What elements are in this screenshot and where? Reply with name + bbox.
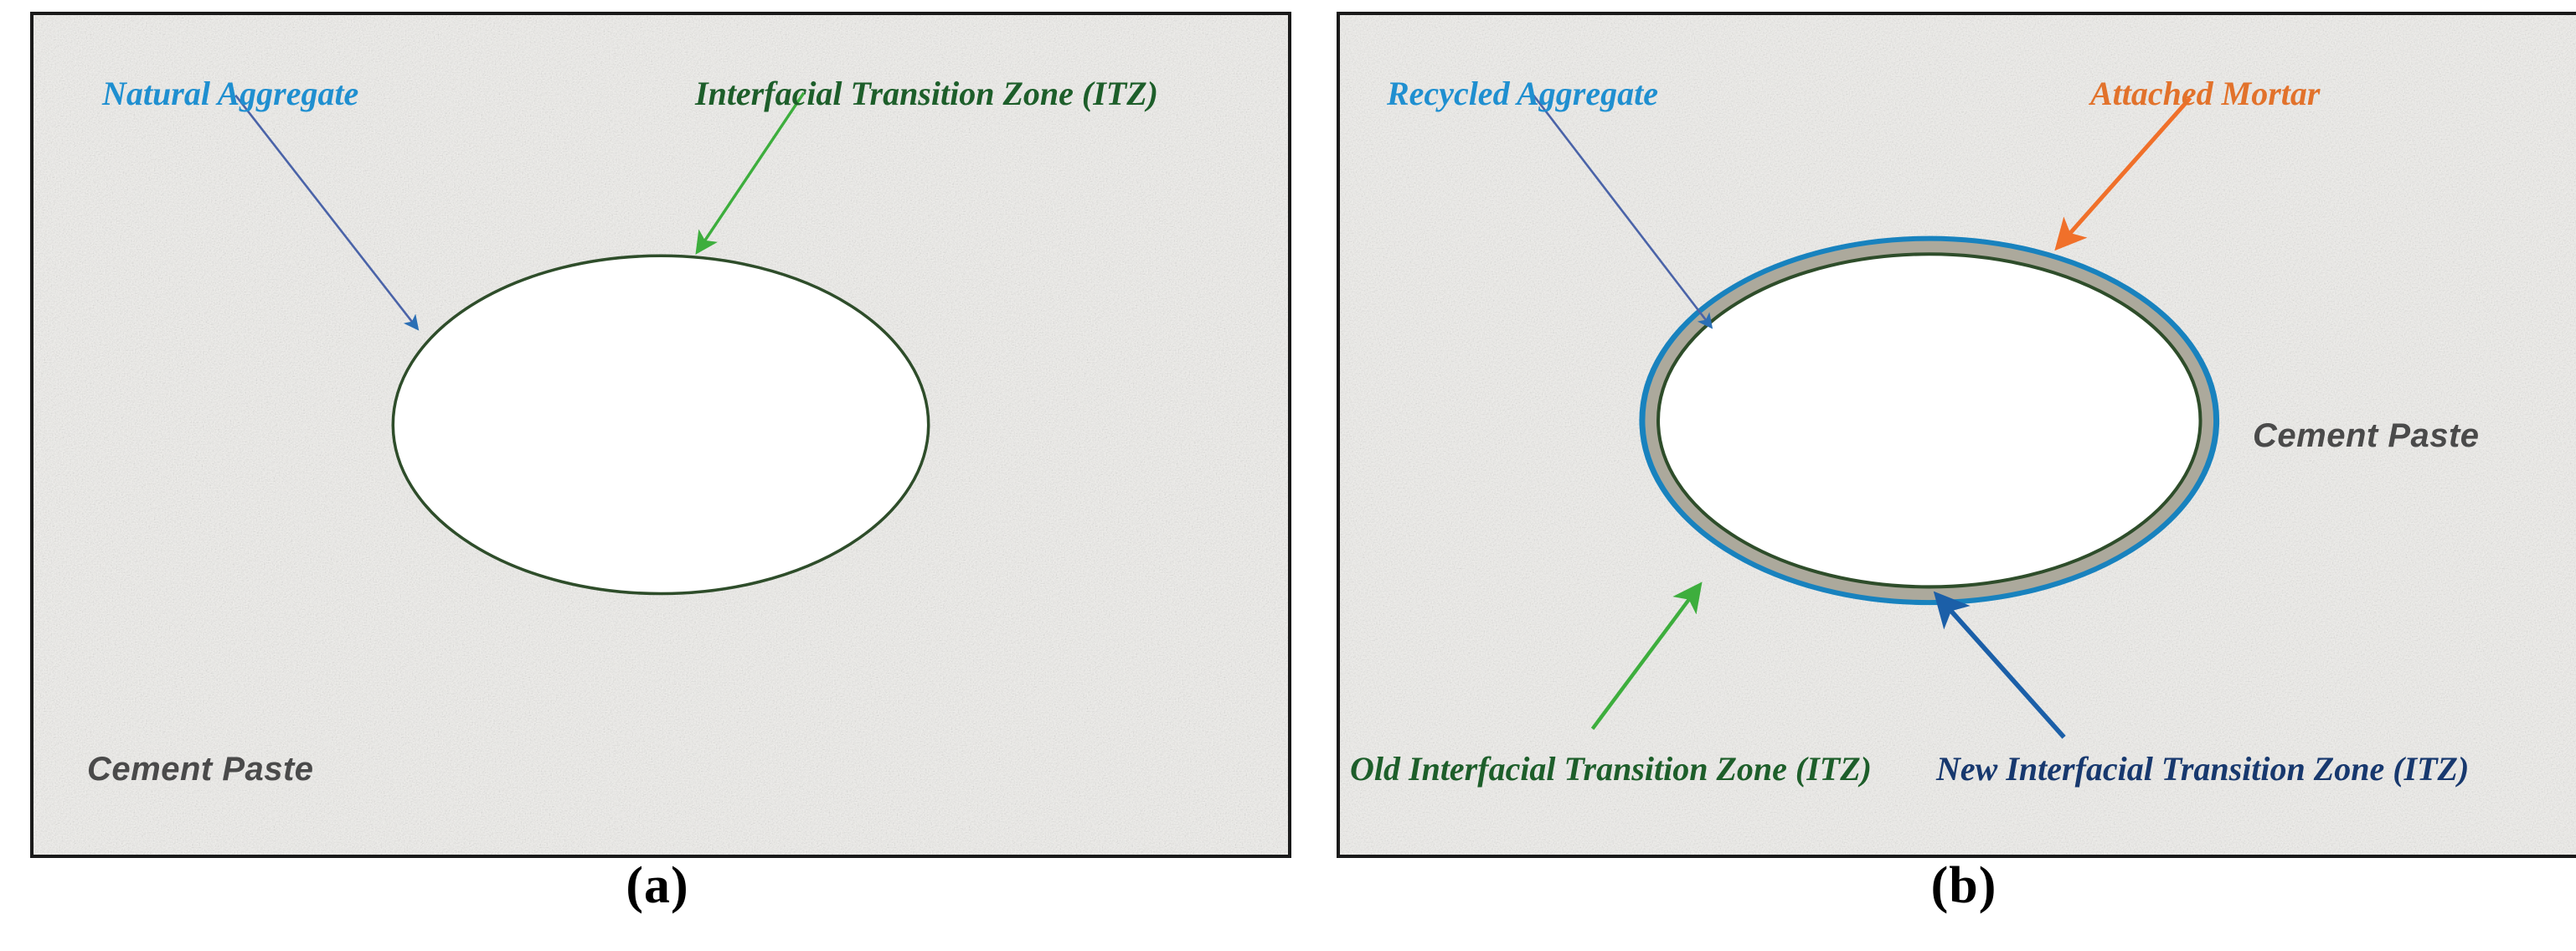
figure-root: Natural Aggregate Interfacial Transition…	[0, 0, 2576, 951]
panel-b-caption: (b)	[1337, 856, 2576, 916]
label-interfacial-transition-zone: Interfacial Transition Zone (ITZ)	[695, 77, 1158, 111]
label-attached-mortar: Attached Mortar	[2090, 77, 2320, 111]
label-natural-aggregate: Natural Aggregate	[102, 77, 358, 111]
label-recycled-aggregate: Recycled Aggregate	[1387, 77, 1658, 111]
recycled-aggregate-core	[1661, 256, 2197, 584]
label-cement-paste-a: Cement Paste	[87, 752, 314, 786]
label-cement-paste-b: Cement Paste	[2253, 419, 2480, 452]
panel-b: Recycled Aggregate Attached Mortar Cemen…	[1337, 12, 2576, 858]
panel-a-graphics	[33, 15, 1288, 855]
panel-a: Natural Aggregate Interfacial Transition…	[30, 12, 1291, 858]
label-old-itz: Old Interfacial Transition Zone (ITZ)	[1350, 752, 1872, 786]
label-new-itz: New Interfacial Transition Zone (ITZ)	[1936, 752, 2469, 786]
natural-aggregate-ellipse	[393, 256, 928, 593]
panel-a-caption: (a)	[30, 856, 1285, 916]
